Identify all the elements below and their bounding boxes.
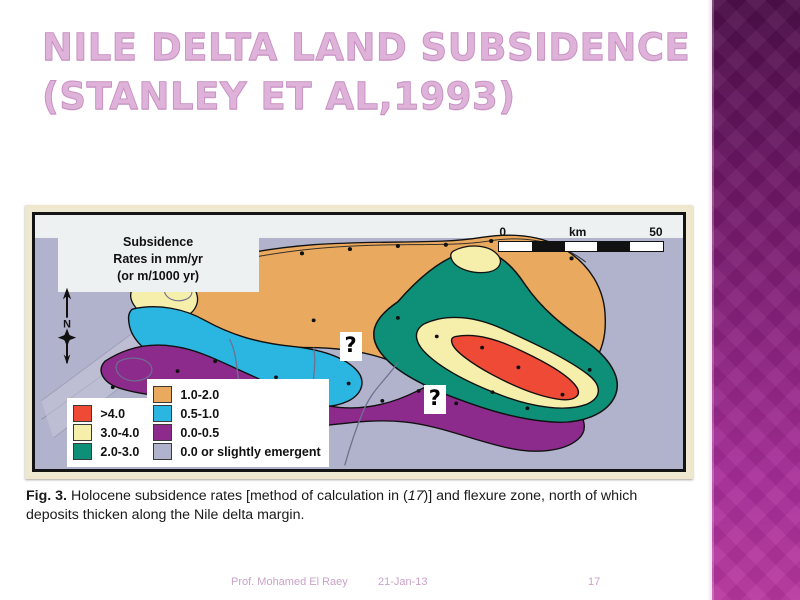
legend-label: 0.0-0.5 — [180, 426, 219, 440]
scale-bar-group: 0 km 50 — [498, 225, 663, 252]
figure-caption-part1: Holocene subsidence rates [method of cal… — [67, 488, 408, 504]
scale-max-label: 50 — [649, 225, 662, 239]
legend-swatch — [73, 443, 92, 460]
compass-icon: N — [54, 286, 80, 366]
legend-swatch — [73, 424, 92, 441]
page-title: Nile Delta Land Subsidence (Stanley et a… — [42, 24, 692, 122]
decorative-purple-band — [712, 0, 800, 600]
legend-label: 3.0-4.0 — [100, 426, 139, 440]
north-arrow: N — [45, 286, 90, 371]
footer-page-number: 17 — [588, 576, 600, 588]
map-canvas[interactable]: Subsidence Rates in mm/yr (or m/1000 yr)… — [32, 212, 686, 472]
figure-number: Fig. 3. — [26, 488, 67, 504]
scale-unit-label: km — [569, 225, 586, 239]
legend-item: 0.0 or slightly emergent — [153, 443, 320, 460]
legend-swatch — [153, 405, 172, 422]
legend-label: >4.0 — [100, 407, 125, 421]
scale-min-label: 0 — [499, 225, 506, 239]
legend-item: 3.0-4.0 — [73, 424, 139, 441]
slide-footer: Prof. Mohamed El Raey 21-Jan-13 17 — [0, 576, 700, 596]
legend-swatch — [153, 386, 172, 403]
figure-caption-reference: 17 — [408, 488, 424, 504]
map-frame: Subsidence Rates in mm/yr (or m/1000 yr)… — [25, 205, 693, 479]
legend-item: 1.0-2.0 — [153, 386, 320, 403]
legend-swatch — [153, 443, 172, 460]
footer-author: Prof. Mohamed El Raey — [231, 576, 348, 588]
legend-item: 0.0-0.5 — [153, 424, 320, 441]
legend-swatch — [73, 405, 92, 422]
figure-block: Subsidence Rates in mm/yr (or m/1000 yr)… — [18, 163, 700, 538]
legend-column-right: 1.0-2.00.5-1.00.0-0.50.0 or slightly eme… — [147, 379, 328, 467]
figure-caption: Fig. 3. Holocene subsidence rates [metho… — [26, 487, 686, 525]
legend-item: >4.0 — [73, 405, 139, 422]
legend-label: 0.5-1.0 — [180, 407, 219, 421]
uncertainty-marker: ? — [340, 332, 362, 361]
legend-item: 2.0-3.0 — [73, 443, 139, 460]
legend-swatch — [153, 424, 172, 441]
legend-label: 2.0-3.0 — [100, 445, 139, 459]
legend-column-left: >4.03.0-4.02.0-3.0 — [67, 398, 147, 467]
footer-date: 21-Jan-13 — [378, 576, 428, 588]
legend-label: 1.0-2.0 — [180, 388, 219, 402]
legend: >4.03.0-4.02.0-3.0 1.0-2.00.5-1.00.0-0.5… — [67, 379, 328, 467]
scale-bar — [498, 241, 663, 252]
legend-label: 0.0 or slightly emergent — [180, 445, 320, 459]
uncertainty-marker: ? — [424, 385, 446, 414]
legend-item: 0.5-1.0 — [153, 405, 320, 422]
map-title-box: Subsidence Rates in mm/yr (or m/1000 yr) — [58, 228, 259, 293]
